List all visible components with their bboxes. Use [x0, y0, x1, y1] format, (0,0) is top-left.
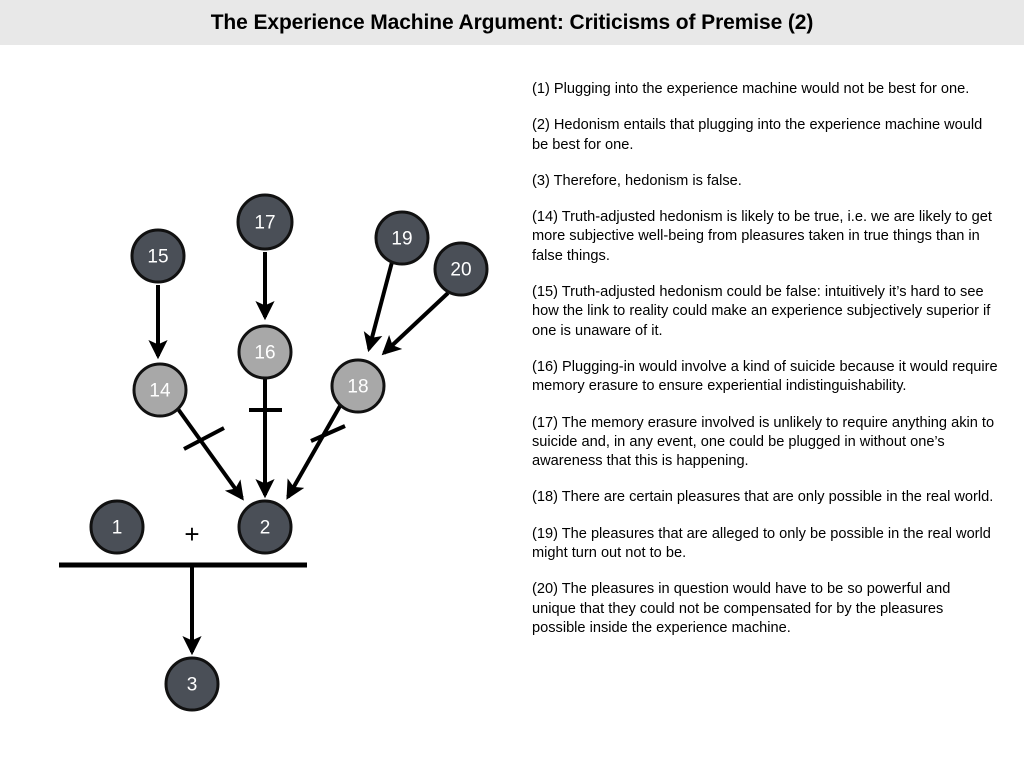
node-18[interactable]: 18	[332, 360, 384, 412]
edge-20-to-18	[384, 293, 448, 353]
argument-diagram: + 15 17 19 20 16	[0, 45, 520, 768]
node-17-label: 17	[254, 213, 275, 234]
node-20[interactable]: 20	[435, 243, 487, 295]
proposition-1: (1) Plugging into the experience machine…	[532, 80, 998, 99]
node-15-label: 15	[147, 247, 168, 268]
page-title: The Experience Machine Argument: Critici…	[211, 11, 814, 35]
node-15[interactable]: 15	[132, 230, 184, 282]
proposition-14: (14) Truth-adjusted hedonism is likely t…	[532, 208, 998, 266]
edge-18-to-2	[288, 406, 340, 497]
edge-14-to-2	[178, 409, 242, 498]
header-bar: The Experience Machine Argument: Critici…	[0, 0, 1024, 45]
proposition-20: (20) The pleasures in question would hav…	[532, 580, 998, 638]
node-18-label: 18	[347, 377, 368, 398]
nodes-layer: 15 17 19 20 16 14	[91, 195, 487, 710]
node-2-label: 2	[260, 518, 271, 539]
node-1[interactable]: 1	[91, 501, 143, 553]
proposition-15: (15) Truth-adjusted hedonism could be fa…	[532, 283, 998, 341]
node-20-label: 20	[450, 260, 471, 281]
proposition-18: (18) There are certain pleasures that ar…	[532, 488, 998, 507]
diagram-canvas: + 15 17 19 20 16	[0, 45, 520, 768]
node-3-label: 3	[187, 675, 198, 696]
node-16[interactable]: 16	[239, 326, 291, 378]
node-1-label: 1	[112, 518, 123, 539]
edge-19-to-18	[369, 262, 392, 349]
node-16-label: 16	[254, 343, 275, 364]
node-2[interactable]: 2	[239, 501, 291, 553]
node-14[interactable]: 14	[134, 364, 186, 416]
edges-layer	[158, 252, 448, 498]
proposition-2: (2) Hedonism entails that plugging into …	[532, 116, 998, 155]
node-19-label: 19	[391, 229, 412, 250]
node-17[interactable]: 17	[238, 195, 292, 249]
proposition-17: (17) The memory erasure involved is unli…	[532, 414, 998, 472]
plus-sign: +	[184, 519, 199, 549]
proposition-19: (19) The pleasures that are alleged to o…	[532, 525, 998, 564]
node-19[interactable]: 19	[376, 212, 428, 264]
proposition-16: (16) Plugging-in would involve a kind of…	[532, 358, 998, 397]
node-3[interactable]: 3	[166, 658, 218, 710]
propositions-panel: (1) Plugging into the experience machine…	[532, 80, 998, 655]
proposition-3: (3) Therefore, hedonism is false.	[532, 172, 998, 191]
node-14-label: 14	[149, 381, 171, 402]
